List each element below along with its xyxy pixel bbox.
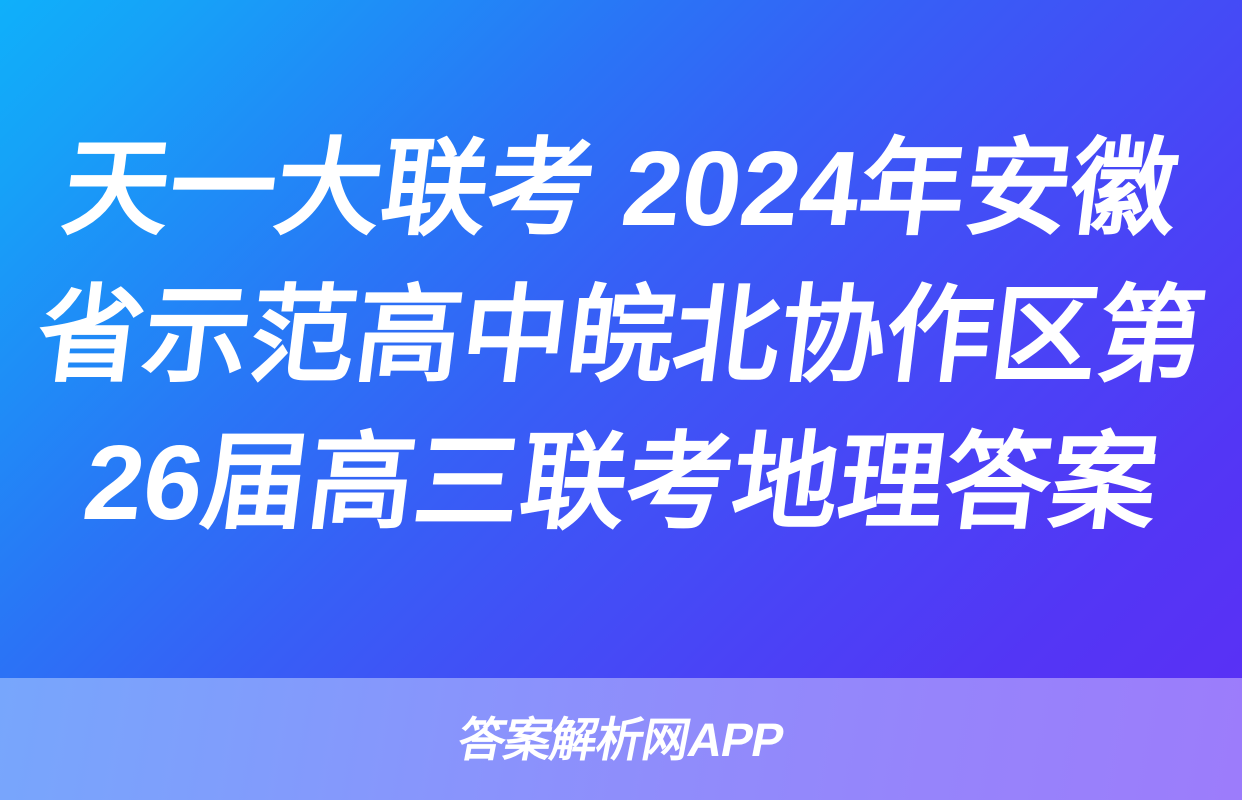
footer-watermark-band: 答案解析网APP xyxy=(0,678,1242,800)
title-line-3: 26届高三联考地理答案 xyxy=(76,410,1166,557)
answer-banner: 天一大联考 2024年安徽 省示范高中皖北协作区第 26届高三联考地理答案 答案… xyxy=(0,0,1242,800)
app-watermark-label: 答案解析网APP xyxy=(455,716,788,763)
title-line-2: 省示范高中皖北协作区第 xyxy=(29,263,1213,410)
title-block: 天一大联考 2024年安徽 省示范高中皖北协作区第 26届高三联考地理答案 xyxy=(0,0,1242,678)
title-line-1: 天一大联考 2024年安徽 xyxy=(55,116,1186,263)
